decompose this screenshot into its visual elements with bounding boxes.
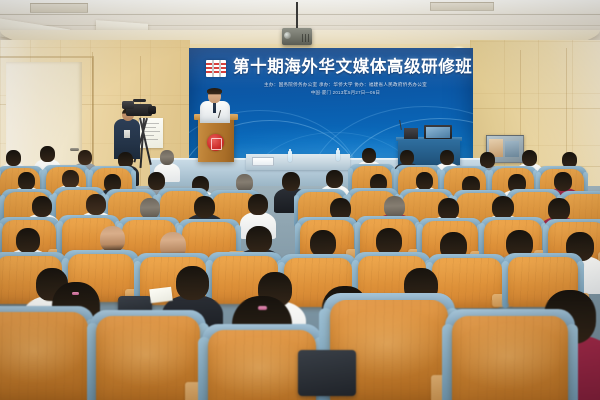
audience-person — [362, 148, 376, 163]
projector-lens-icon — [284, 32, 291, 39]
camera-lens-icon — [148, 106, 156, 114]
seminar-emblem-icon — [206, 60, 226, 77]
camera-viewfinder — [122, 101, 134, 109]
audience-person — [140, 198, 160, 219]
handout-paper — [149, 287, 173, 304]
ceiling-band — [0, 0, 600, 13]
audience-person — [40, 146, 55, 162]
audience-person — [6, 150, 21, 166]
audience-person — [384, 196, 405, 218]
water-bottle — [336, 150, 340, 161]
banner-title: 第十期海外华文媒体高级研修班 — [233, 57, 461, 77]
av-equipment-box — [404, 128, 418, 139]
projector-vent — [302, 34, 303, 42]
projector-mount-pole — [296, 2, 298, 30]
audience-person — [522, 150, 537, 166]
audience-person — [554, 172, 572, 191]
audience-person — [282, 172, 300, 191]
podium-seal-icon — [207, 134, 224, 151]
projector-vent — [305, 34, 306, 42]
audience-person — [400, 150, 414, 165]
audience-person — [438, 198, 459, 220]
audience-person — [310, 230, 336, 257]
ceiling-vent — [30, 3, 88, 13]
audience-person — [62, 170, 79, 188]
audience-person — [148, 172, 165, 190]
audience-person — [32, 196, 52, 217]
name-card — [252, 157, 274, 166]
banner-subtitle: 主办：国务院侨务办公室 承办：华侨大学 协办：福建省人民政府侨务办公室 — [233, 81, 458, 88]
audience-person — [248, 194, 268, 215]
audience-person — [416, 172, 433, 190]
audience-person — [160, 150, 174, 165]
laptop-screen — [426, 127, 450, 138]
ceiling-vent — [430, 2, 494, 11]
banner-date-line: 中国·厦门 2013年5月27日—06日 — [233, 89, 458, 96]
audience-person — [78, 150, 92, 165]
camera-handle — [133, 99, 146, 102]
wall-seam — [470, 108, 600, 109]
audience-person — [86, 194, 106, 215]
audience-person — [492, 196, 514, 219]
water-bottle — [288, 151, 292, 162]
speaker-tie — [213, 102, 216, 113]
audience-person — [326, 170, 343, 188]
audience-person — [440, 150, 454, 165]
projector-vent — [308, 34, 309, 42]
audience-person — [176, 266, 209, 300]
ceiling-seam — [0, 25, 600, 26]
auditorium-seat[interactable] — [0, 312, 88, 400]
auditorium-seat[interactable] — [452, 316, 568, 400]
ceiling-seam — [0, 14, 600, 15]
hair-clip — [72, 292, 79, 295]
auditorium-seat[interactable] — [96, 316, 200, 400]
audience-person — [246, 226, 272, 253]
operator-badge — [124, 130, 130, 138]
speaker-hair — [207, 88, 222, 94]
audience-person — [100, 226, 125, 252]
auditorium-photo: 第十期海外华文媒体高级研修班 主办：国务院侨务办公室 承办：华侨大学 协办：福建… — [0, 0, 600, 400]
audience-person — [18, 172, 35, 190]
bag — [298, 350, 356, 396]
audience-person — [194, 196, 215, 218]
audience-person — [548, 198, 570, 221]
audience-person — [16, 228, 40, 253]
hair-clip — [258, 306, 267, 310]
audience-person — [376, 228, 402, 255]
